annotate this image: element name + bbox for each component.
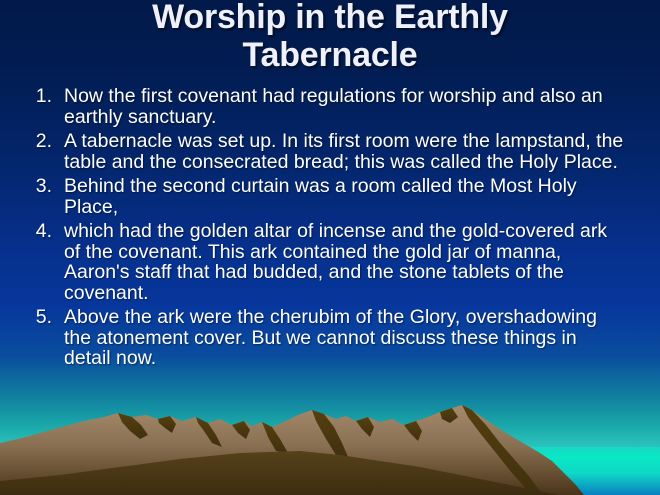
list-item-number: 3.: [26, 176, 64, 197]
list-item-number: 4.: [26, 221, 64, 242]
list-item-text: Now the first covenant had regulations f…: [64, 86, 642, 127]
list-item: 1. Now the first covenant had regulation…: [26, 86, 642, 127]
slide-title: Worship in the Earthly Tabernacle: [0, 0, 660, 74]
list-item-text: which had the golden altar of incense an…: [64, 221, 642, 303]
list-item-text: A tabernacle was set up. In its first ro…: [64, 131, 642, 172]
list-item-text: Above the ark were the cherubim of the G…: [64, 307, 642, 369]
mountain-landscape-svg: [0, 395, 660, 495]
slide-title-line-2: Tabernacle: [0, 36, 660, 74]
list-item: 3. Behind the second curtain was a room …: [26, 176, 642, 217]
mountain-landscape-graphic: [0, 395, 660, 495]
list-item-number: 1.: [26, 86, 64, 107]
list-item: 4. which had the golden altar of incense…: [26, 221, 642, 303]
slide-title-line-1: Worship in the Earthly: [0, 0, 660, 36]
list-item-number: 2.: [26, 131, 64, 152]
slide-numbered-list: 1. Now the first covenant had regulation…: [0, 86, 660, 373]
list-item-number: 5.: [26, 307, 64, 328]
list-item-text: Behind the second curtain was a room cal…: [64, 176, 642, 217]
list-item: 5. Above the ark were the cherubim of th…: [26, 307, 642, 369]
presentation-slide: Worship in the Earthly Tabernacle 1. Now…: [0, 0, 660, 495]
list-item: 2. A tabernacle was set up. In its first…: [26, 131, 642, 172]
